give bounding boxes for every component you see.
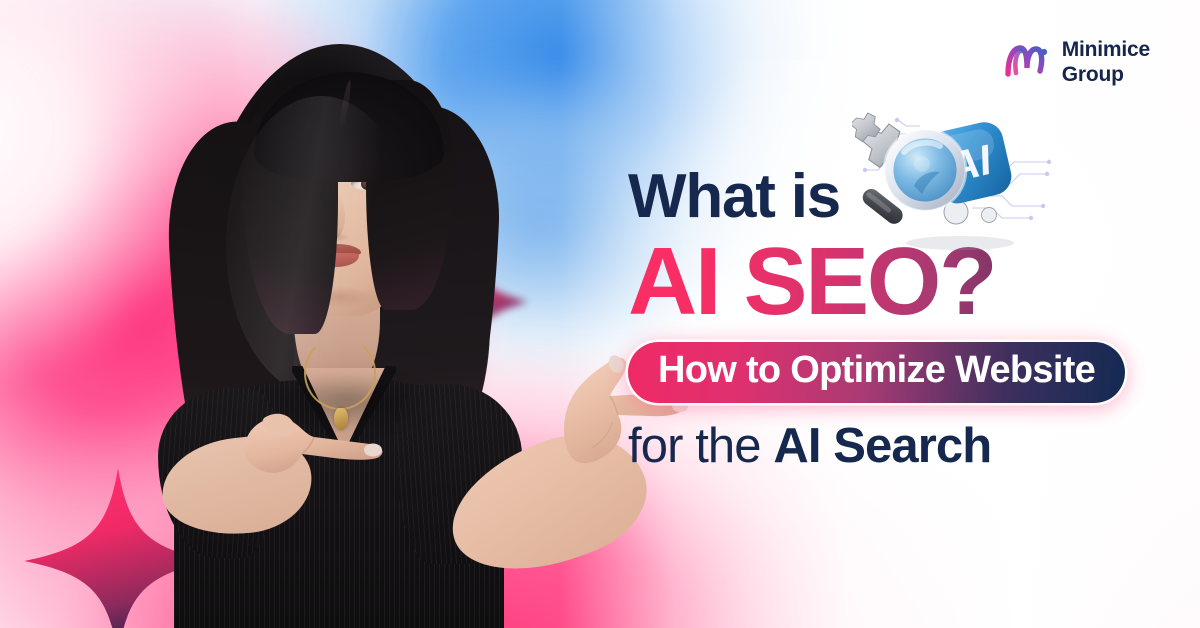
brand-logo[interactable]: Minimice Group [1003, 38, 1150, 88]
brand-name-line1: Minimice [1062, 38, 1150, 61]
brand-wordmark: Minimice Group [1062, 38, 1150, 88]
necklace-chain [304, 336, 376, 410]
model-photo [66, 36, 626, 628]
hand-left-pointing [242, 404, 392, 496]
ai-magnifier-gear-icon: AI [852, 112, 1058, 254]
banner-canvas: Minimice Group What is AI SEO? How to Op… [0, 0, 1200, 628]
brand-name-line2: Group [1062, 63, 1124, 86]
headline-line-for-the-ai-search: for the AI Search [628, 421, 1158, 472]
minimice-swirl-mark-icon [1003, 40, 1049, 86]
headline-pill-optimize-website[interactable]: How to Optimize Website [628, 342, 1125, 403]
headline-ai-search: AI Search [773, 419, 991, 473]
headline-for-the: for the [628, 419, 773, 473]
